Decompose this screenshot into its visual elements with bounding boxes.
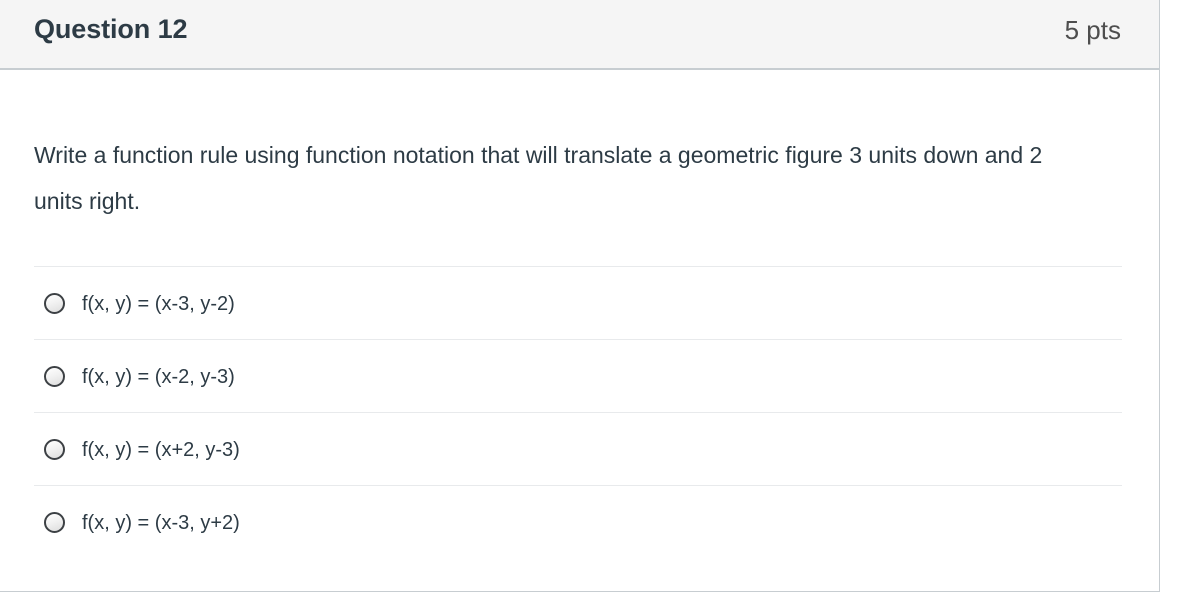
answer-option-3-inner[interactable]: f(x, y) = (x+2, y-3) [34,413,240,486]
answer-option-2[interactable]: f(x, y) = (x-2, y-3) [34,339,1122,412]
answer-option-1[interactable]: f(x, y) = (x-3, y-2) [34,266,1122,339]
answer-option-1-label: f(x, y) = (x-3, y-2) [82,292,235,316]
answer-option-3[interactable]: f(x, y) = (x+2, y-3) [34,412,1122,485]
answer-list: f(x, y) = (x-3, y-2) f(x, y) = (x-2, y-3… [34,266,1122,558]
answer-option-4-label: f(x, y) = (x-3, y+2) [82,511,240,535]
question-card: Question 12 5 pts Write a function rule … [0,0,1160,592]
question-points: 5 pts [1065,13,1121,47]
answer-option-2-inner[interactable]: f(x, y) = (x-2, y-3) [34,340,235,413]
radio-button-icon[interactable] [44,512,65,533]
radio-button-icon[interactable] [44,293,65,314]
question-title: Question 12 [34,12,187,46]
answer-option-2-label: f(x, y) = (x-2, y-3) [82,365,235,389]
answer-option-4[interactable]: f(x, y) = (x-3, y+2) [34,485,1122,558]
question-header: Question 12 5 pts [0,0,1159,70]
answer-option-3-label: f(x, y) = (x+2, y-3) [82,438,240,462]
answer-option-1-inner[interactable]: f(x, y) = (x-3, y-2) [34,267,235,340]
radio-button-icon[interactable] [44,439,65,460]
radio-button-icon[interactable] [44,366,65,387]
question-prompt: Write a function rule using function not… [34,132,1064,224]
answer-option-4-inner[interactable]: f(x, y) = (x-3, y+2) [34,486,240,559]
